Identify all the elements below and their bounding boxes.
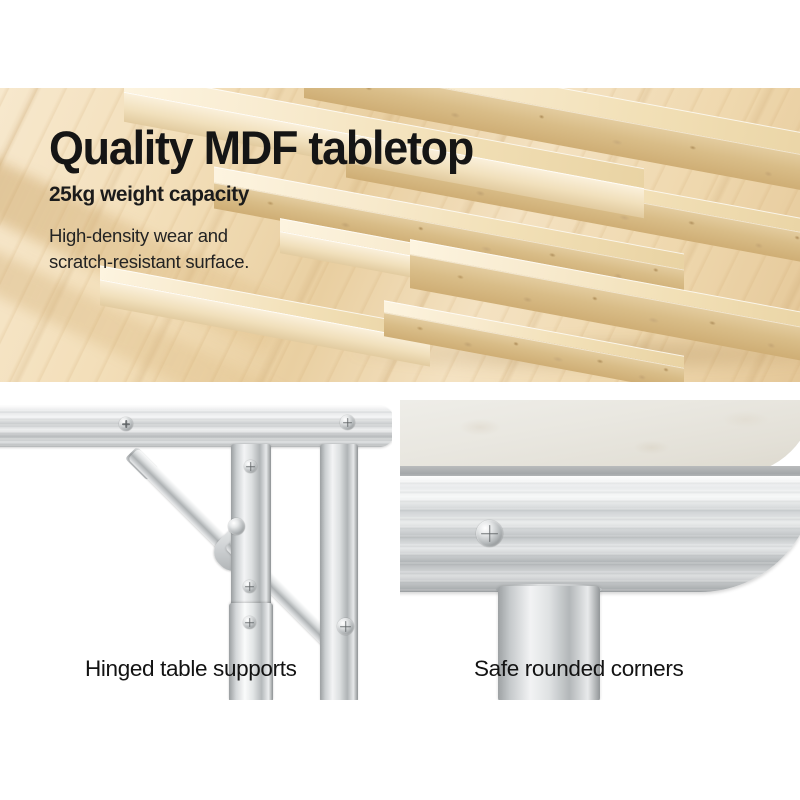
- feature-caption-hinged-supports: Hinged table supports: [85, 656, 297, 682]
- panel-mdf-tabletop: Quality MDF tabletop 25kg weight capacit…: [0, 88, 800, 382]
- rail-screw-left: [119, 417, 133, 431]
- body-description: High-density wear and scratch-resistant …: [49, 223, 569, 276]
- brace-arm-upper: [128, 448, 235, 555]
- panel-hinged-supports: Hinged table supports: [0, 400, 392, 700]
- leg-screw-top: [244, 460, 257, 473]
- table-leg-outer: [320, 444, 358, 700]
- corner-table-leg: [498, 586, 600, 700]
- subheading: 25kg weight capacity: [49, 184, 553, 206]
- feature-caption-rounded-corners: Safe rounded corners: [474, 656, 683, 682]
- leg-screw-middle: [243, 580, 256, 593]
- body-line-2: scratch-resistant surface.: [49, 249, 569, 275]
- product-feature-image: Quality MDF tabletop 25kg weight capacit…: [0, 0, 800, 800]
- leg-screw-lower: [243, 616, 256, 629]
- rail-screw-right: [340, 415, 355, 430]
- edge-band-screw: [476, 520, 503, 547]
- rounded-corner-image: [400, 400, 800, 700]
- page-title: Quality MDF tabletop: [49, 124, 546, 171]
- body-line-1: High-density wear and: [49, 223, 569, 249]
- pivot-rivet: [228, 518, 245, 535]
- mdf-top-surface: [400, 400, 800, 474]
- top-panel-copy-block: Quality MDF tabletop 25kg weight capacit…: [49, 124, 569, 275]
- panel-rounded-corners: Safe rounded corners: [400, 400, 800, 700]
- table-apron-rail: [0, 406, 392, 447]
- aluminium-edge-band: [400, 476, 800, 592]
- brace-end-screw: [337, 618, 354, 635]
